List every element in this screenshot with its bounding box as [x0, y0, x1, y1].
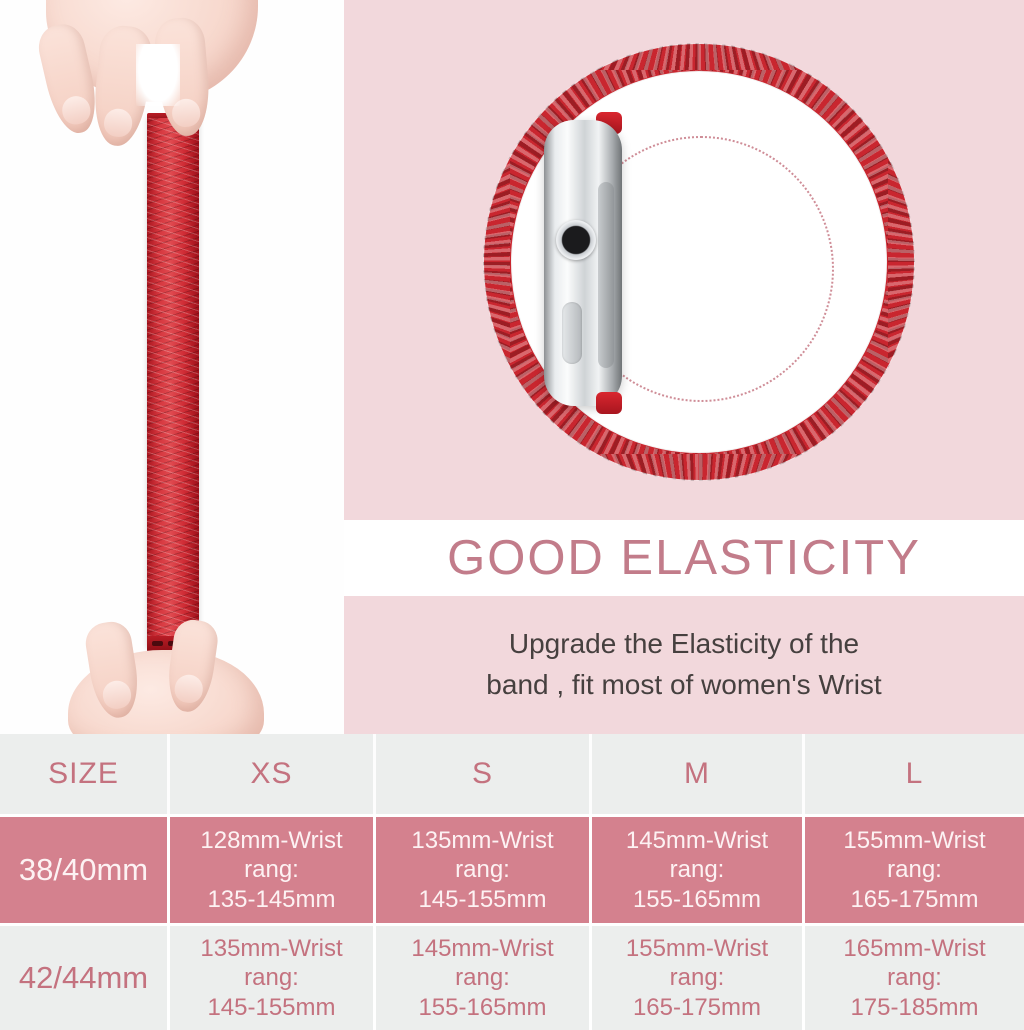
row-size-label: 38/40mm: [0, 817, 170, 923]
column-header-size: SIZE: [0, 734, 170, 814]
range-line-1: 135mm-Wrist: [200, 935, 342, 962]
cell-l: 155mm-Wrist rang: 165-175mm: [805, 817, 1024, 923]
range-line-3: 155-165mm: [633, 886, 761, 913]
table-row: 38/40mm 128mm-Wrist rang: 135-145mm 135m…: [0, 817, 1024, 923]
range-line-2: rang:: [887, 964, 942, 991]
size-value: 42/44mm: [19, 960, 148, 996]
range-text: 165mm-Wrist rang: 175-185mm: [843, 934, 985, 1022]
subtitle-line-1: Upgrade the Elasticity of the: [509, 628, 859, 659]
row-size-label: 42/44mm: [0, 926, 170, 1030]
range-text: 128mm-Wrist rang: 135-145mm: [200, 826, 342, 914]
band-connector-bottom: [596, 392, 622, 414]
watch-case-edge: [598, 182, 614, 368]
range-line-3: 145-155mm: [207, 994, 335, 1021]
range-text: 145mm-Wrist rang: 155-165mm: [626, 826, 768, 914]
lower-index-nail: [173, 673, 205, 705]
lower-hand: [52, 612, 302, 734]
lower-thumb-nail: [101, 679, 133, 711]
range-line-1: 155mm-Wrist: [843, 827, 985, 854]
subtitle-band: Upgrade the Elasticity of the band , fit…: [344, 596, 1024, 734]
range-text: 135mm-Wrist rang: 145-155mm: [411, 826, 553, 914]
cell-s: 135mm-Wrist rang: 145-155mm: [376, 817, 592, 923]
range-line-2: rang:: [455, 856, 510, 883]
range-line-3: 175-185mm: [850, 994, 978, 1021]
cell-xs: 128mm-Wrist rang: 135-145mm: [170, 817, 376, 923]
range-line-3: 155-165mm: [418, 994, 546, 1021]
index-nail: [103, 107, 134, 138]
range-line-1: 145mm-Wrist: [626, 827, 768, 854]
watch-side-view: [544, 120, 622, 406]
range-line-1: 165mm-Wrist: [843, 935, 985, 962]
range-text: 145mm-Wrist rang: 155-165mm: [411, 934, 553, 1022]
subtitle: Upgrade the Elasticity of the band , fit…: [468, 624, 899, 705]
table-row: 42/44mm 135mm-Wrist rang: 145-155mm 145m…: [0, 926, 1024, 1030]
range-line-1: 155mm-Wrist: [626, 935, 768, 962]
finger-gap-highlight: [136, 44, 180, 106]
column-header-xs: XS: [170, 734, 376, 814]
thumb-nail: [59, 93, 93, 127]
range-line-3: 165-175mm: [633, 994, 761, 1021]
range-line-3: 145-155mm: [418, 886, 546, 913]
column-header-l: L: [805, 734, 1024, 814]
range-line-2: rang:: [670, 964, 725, 991]
range-line-2: rang:: [670, 856, 725, 883]
range-line-3: 135-145mm: [207, 886, 335, 913]
cell-s: 145mm-Wrist rang: 155-165mm: [376, 926, 592, 1030]
range-line-1: 128mm-Wrist: [200, 827, 342, 854]
range-line-3: 165-175mm: [850, 886, 978, 913]
cell-m: 145mm-Wrist rang: 155-165mm: [592, 817, 805, 923]
page-title: GOOD ELASTICITY: [447, 530, 921, 586]
column-header-m: M: [592, 734, 805, 814]
range-line-2: rang:: [887, 856, 942, 883]
headline-band: GOOD ELASTICITY: [344, 520, 1024, 596]
size-chart-table: SIZE XS S M L 38/40mm 128mm-Wrist rang: …: [0, 734, 1024, 1024]
column-header-s: S: [376, 734, 592, 814]
range-text: 155mm-Wrist rang: 165-175mm: [626, 934, 768, 1022]
range-line-1: 145mm-Wrist: [411, 935, 553, 962]
subtitle-line-2: band , fit most of women's Wrist: [486, 669, 881, 700]
product-infographic: GOOD ELASTICITY Upgrade the Elasticity o…: [0, 0, 1024, 1024]
stretch-demo-photo: [0, 0, 344, 734]
cell-xs: 135mm-Wrist rang: 145-155mm: [170, 926, 376, 1030]
table-header-row: SIZE XS S M L: [0, 734, 1024, 814]
watch-loop-photo: [344, 0, 1024, 520]
digital-crown-icon: [556, 220, 596, 260]
range-line-2: rang:: [244, 964, 299, 991]
cell-l: 165mm-Wrist rang: 175-185mm: [805, 926, 1024, 1030]
range-line-1: 135mm-Wrist: [411, 827, 553, 854]
braided-band-strip: [147, 118, 199, 648]
range-text: 135mm-Wrist rang: 145-155mm: [200, 934, 342, 1022]
range-line-2: rang:: [455, 964, 510, 991]
size-value: 38/40mm: [19, 852, 148, 888]
cell-m: 155mm-Wrist rang: 165-175mm: [592, 926, 805, 1030]
side-button-icon: [562, 302, 582, 364]
range-line-2: rang:: [244, 856, 299, 883]
range-text: 155mm-Wrist rang: 165-175mm: [843, 826, 985, 914]
